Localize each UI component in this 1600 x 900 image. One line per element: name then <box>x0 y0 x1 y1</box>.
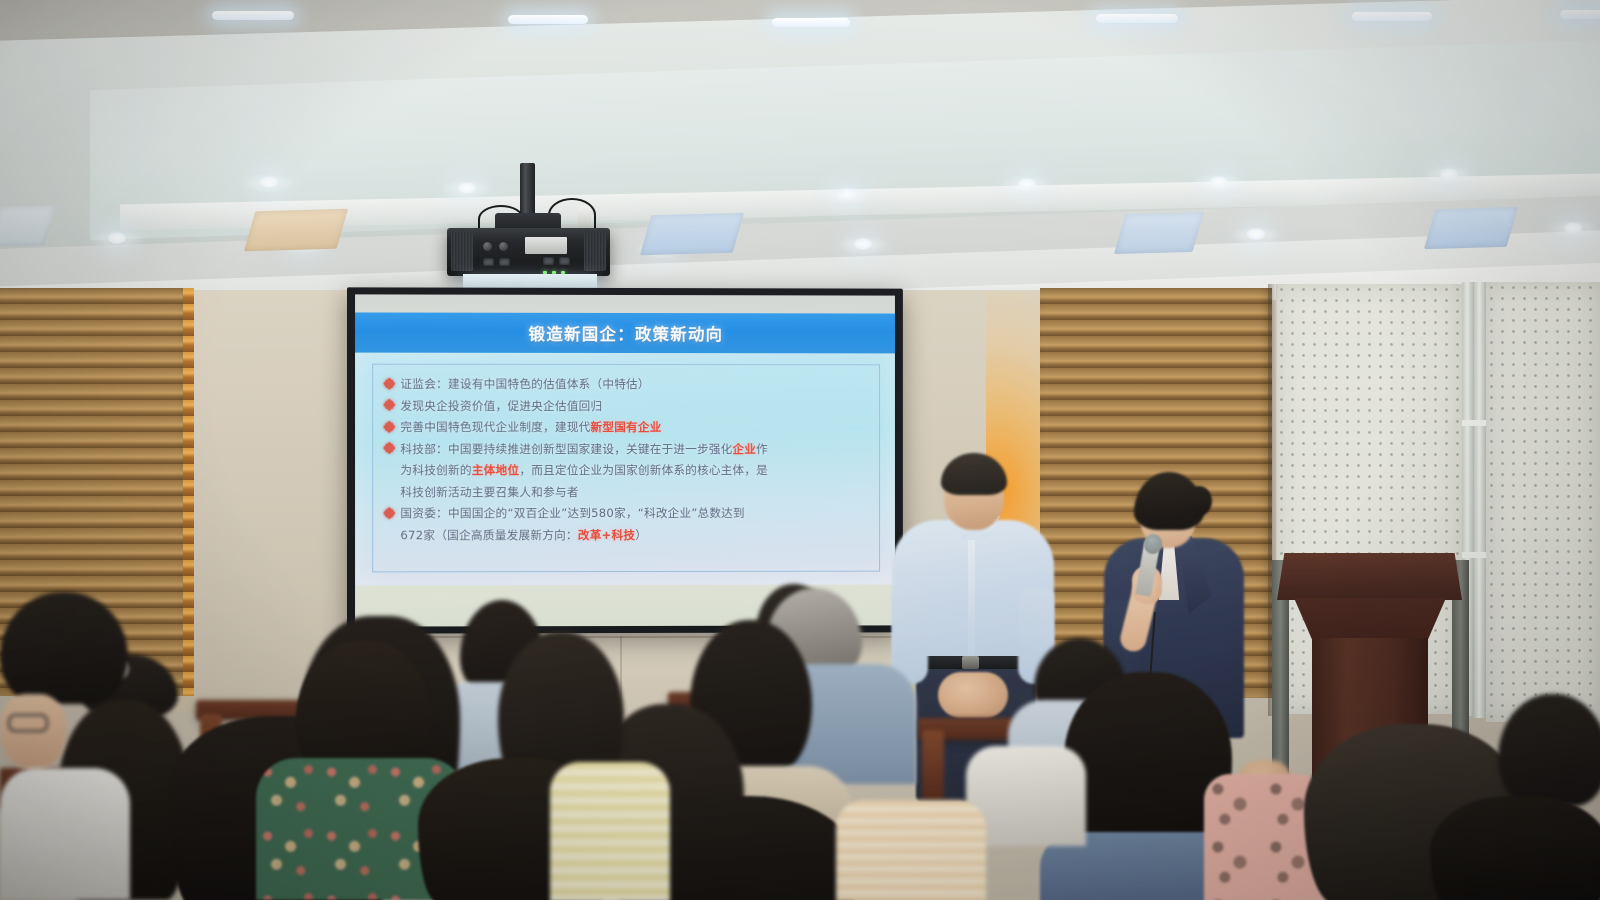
slide-bullet-text: 发现央企投资价值，促进央企估值回归 <box>400 395 602 416</box>
slide-bullet-text: 为科技创新的主体地位，而且定位企业为国家创新体系的核心主体，是 <box>400 460 768 481</box>
downlight <box>106 232 128 245</box>
ceiling-vent <box>1114 212 1204 254</box>
downlight <box>1245 228 1267 241</box>
panel-mullion-highlight <box>1462 420 1486 426</box>
slide-plain-text: 科技创新活动主要召集人和参与者 <box>400 485 578 499</box>
bullet-diamond-icon <box>382 420 395 433</box>
downlight <box>456 182 478 195</box>
strip-light <box>772 18 850 27</box>
panel-mullion <box>1474 282 1486 718</box>
slide-plain-text: ） <box>635 527 647 541</box>
slide-bullet-item: 科技部：中国要持续推进创新型国家建设，关键在于进一步强化企业作 <box>380 438 872 459</box>
slide-bullet-item: 国资委：中国国企的“双百企业”达到580家，“科改企业”总数达到 <box>380 503 872 524</box>
podium-neck <box>1294 598 1446 640</box>
downlight <box>258 176 280 189</box>
man-belt-buckle <box>962 656 979 669</box>
slide-bullet-text: 完善中国特色现代企业制度，建现代新型国有企业 <box>400 417 661 438</box>
strip-light <box>1560 10 1600 19</box>
projector-port <box>499 258 510 266</box>
audience-member-striped-shirt <box>836 800 986 900</box>
projector-vent-grill <box>584 233 606 271</box>
downlight <box>852 238 874 251</box>
slide-bullet-item: 证监会：建设有中国特色的估值体系（中特估） <box>380 374 872 395</box>
strip-light <box>508 15 588 24</box>
slide-bullet-continuation: 为科技创新的主体地位，而且定位企业为国家创新体系的核心主体，是 <box>380 460 872 481</box>
audience-member-face <box>0 694 66 770</box>
man-clasped-hands <box>938 672 1008 718</box>
slide-plain-text: 国资委：中国国企的“双百企业”达到580家，“科改企业”总数达到 <box>400 506 744 520</box>
woman-hair-bun <box>1186 486 1212 516</box>
downlight <box>836 188 858 201</box>
slide-highlight-text: 主体地位 <box>472 463 520 477</box>
strip-light <box>1352 12 1432 21</box>
projector-port <box>559 257 570 265</box>
slide-title: 锻造新国企：政策新动向 <box>529 321 724 345</box>
audience-member-shirt <box>0 768 130 900</box>
downlight <box>1208 176 1230 189</box>
bullet-diamond-icon <box>382 441 395 454</box>
slide-highlight-text: 企业 <box>732 442 756 456</box>
slide-bullet-item: 发现央企投资价值，促进央企估值回归 <box>380 395 872 416</box>
slide-bullet-text: 672家（国企高质量发展新方向：改革+科技） <box>400 524 647 545</box>
screen-surface: 锻造新国企：政策新动向 证监会：建设有中国特色的估值体系（中特估）发现央企投资价… <box>355 294 895 626</box>
strip-light <box>1096 14 1178 23</box>
slide-plain-text: 672家（国企高质量发展新方向： <box>400 528 577 542</box>
presentation-hall-photo: 锻造新国企：政策新动向 证监会：建设有中国特色的估值体系（中特估）发现央企投资价… <box>0 0 1600 900</box>
slide-title-bar: 锻造新国企：政策新动向 <box>355 312 895 353</box>
acoustic-panel <box>1486 282 1600 722</box>
downlight <box>1016 178 1038 191</box>
slide-bullet-text: 科技创新活动主要召集人和参与者 <box>400 482 578 503</box>
projector-knob <box>499 242 508 251</box>
slide-bullet-continuation: 672家（国企高质量发展新方向：改革+科技） <box>380 524 872 545</box>
slide-body: 证监会：建设有中国特色的估值体系（中特估）发现央企投资价值，促进央企估值回归完善… <box>372 364 880 573</box>
ceiling-vent <box>1424 207 1518 249</box>
projector-port <box>543 257 554 265</box>
bullet-diamond-icon <box>382 398 395 411</box>
ceiling-vent <box>640 213 744 256</box>
slide-bullet-text: 科技部：中国要持续推进创新型国家建设，关键在于进一步强化企业作 <box>400 438 768 459</box>
podium-top <box>1277 553 1462 600</box>
audience-member <box>0 592 128 704</box>
slide-plain-text: 为科技创新的 <box>400 463 471 477</box>
audience-member <box>1430 796 1600 900</box>
slide-highlight-text: 新型国有企业 <box>591 420 662 434</box>
audience-member-striped-shirt <box>550 762 670 900</box>
projector-knob <box>483 242 492 251</box>
projector-body <box>447 228 610 276</box>
slide-plain-text: ，而且定位企业为国家创新体系的核心主体，是 <box>519 463 768 477</box>
projector-port <box>483 258 494 266</box>
chair-armrest <box>922 730 944 800</box>
slide-plain-text: 完善中国特色现代企业制度，建现代 <box>400 420 590 434</box>
strip-light <box>212 11 294 20</box>
projector-vent-grill <box>451 233 473 271</box>
slide-plain-text: 发现央企投资价值，促进央企估值回归 <box>400 398 602 412</box>
slide-bullet-item: 完善中国特色现代企业制度，建现代新型国有企业 <box>380 417 872 438</box>
slide-plain-text: 科技部：中国要持续推进创新型国家建设，关键在于进一步强化 <box>400 441 732 455</box>
man-placket <box>968 540 975 656</box>
panel-mullion-highlight <box>1462 552 1486 558</box>
slide-plain-text: 作 <box>756 442 768 456</box>
slide-bullet-continuation: 科技创新活动主要召集人和参与者 <box>380 481 872 502</box>
slide-highlight-text: 改革+科技 <box>578 527 635 541</box>
presentation-slide: 锻造新国企：政策新动向 证监会：建设有中国特色的估值体系（中特估）发现央企投资价… <box>355 312 895 585</box>
bullet-diamond-icon <box>382 506 395 519</box>
projection-screen: 锻造新国企：政策新动向 证监会：建设有中国特色的估值体系（中特估）发现央企投资价… <box>347 287 903 633</box>
ceiling-vent <box>244 209 348 252</box>
slide-plain-text: 证监会：建设有中国特色的估值体系（中特估） <box>400 377 649 391</box>
projector-label <box>525 237 567 254</box>
downlight <box>1562 222 1584 235</box>
bullet-diamond-icon <box>382 377 395 390</box>
slide-bullet-text: 国资委：中国国企的“双百企业”达到580家，“科改企业”总数达到 <box>400 503 744 524</box>
audience-glasses <box>8 714 48 732</box>
downlight <box>1438 168 1460 181</box>
slide-bullet-text: 证监会：建设有中国特色的估值体系（中特估） <box>400 374 649 395</box>
